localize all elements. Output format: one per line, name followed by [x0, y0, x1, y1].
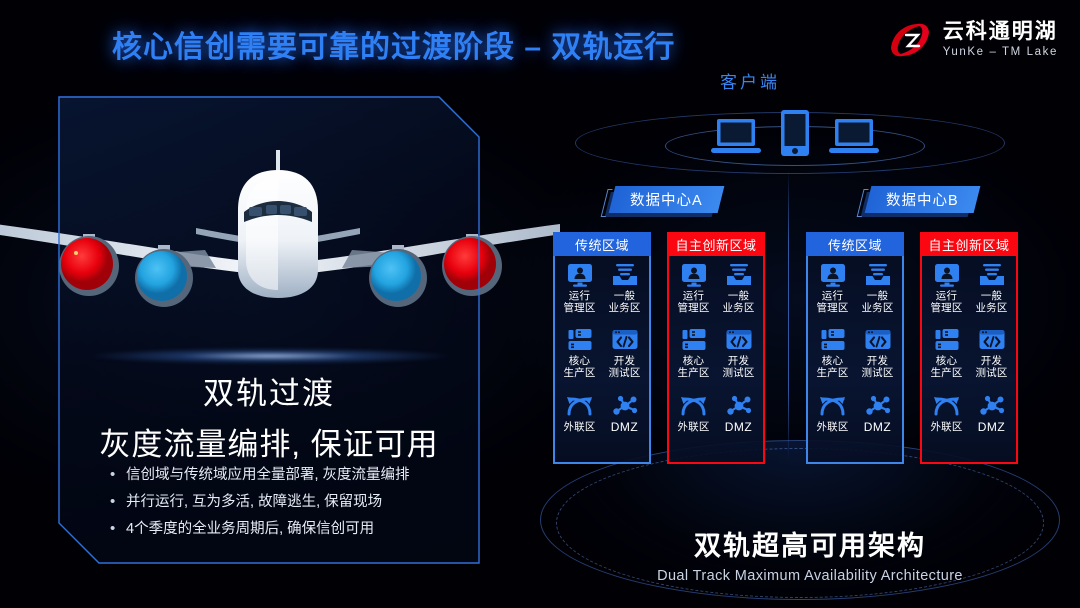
zone-cell-label: 外联区	[563, 421, 595, 433]
network-node-icon	[611, 393, 639, 419]
zone-traditional-dc-a[interactable]: 传统区域 运行 管理区一般 业务区核心 生产区开发 测试区外联区DMZ	[553, 232, 651, 464]
zone-cell-label: 核心 生产区	[677, 355, 709, 379]
zone-title: 传统区域	[553, 232, 651, 256]
inbox-tray-icon	[865, 262, 891, 288]
datacenter-divider	[788, 170, 789, 460]
code-window-icon	[726, 327, 752, 353]
zone-cell-grid: 运行 管理区一般 业务区核心 生产区开发 测试区外联区DMZ	[553, 256, 651, 464]
zone-cell-label: DMZ	[725, 421, 753, 433]
light-streak	[90, 348, 450, 364]
zone-cell-label: 运行 管理区	[563, 290, 595, 314]
zone-cell-label: 开发 测试区	[722, 355, 754, 379]
bullet-list: 信创域与传统域应用全量部署, 灰度流量编排 并行运行, 互为多活, 故障逃生, …	[108, 462, 488, 543]
laptop-icon	[828, 117, 880, 157]
zone-cell[interactable]: 一般 业务区	[969, 262, 1014, 327]
zone-cell-label: 运行 管理区	[816, 290, 848, 314]
zone-cell[interactable]: 核心 生产区	[671, 327, 716, 392]
zone-cell[interactable]: 开发 测试区	[716, 327, 761, 392]
slide-canvas: 核心信创需要可靠的过渡阶段 – 双轨运行 云科通明湖 YunKe – TM La…	[0, 0, 1080, 608]
zone-cell-label: 一般 业务区	[722, 290, 754, 314]
server-stack-icon	[820, 327, 846, 353]
headline-line-1: 双轨过渡	[58, 368, 480, 413]
client-device-group	[700, 105, 890, 157]
zone-cell[interactable]: 开发 测试区	[969, 327, 1014, 392]
crossing-arrows-icon	[819, 393, 847, 419]
zone-cell-label: 开发 测试区	[861, 355, 893, 379]
network-node-icon	[864, 393, 892, 419]
list-item: 4个季度的全业务周期后, 确保信创可用	[108, 516, 488, 543]
server-stack-icon	[681, 327, 707, 353]
code-window-icon	[612, 327, 638, 353]
zone-cell[interactable]: 核心 生产区	[924, 327, 969, 392]
zone-cell-label: DMZ	[864, 421, 892, 433]
zone-cell[interactable]: 开发 测试区	[602, 327, 647, 392]
zone-cell[interactable]: DMZ	[855, 393, 900, 458]
zone-cell[interactable]: 运行 管理区	[810, 262, 855, 327]
monitor-user-icon	[681, 262, 707, 288]
zone-cell[interactable]: 外联区	[671, 393, 716, 458]
brand-logo: 云科通明湖 YunKe – TM Lake	[887, 18, 1058, 62]
zone-innovation-dc-a[interactable]: 自主创新区域 运行 管理区一般 业务区核心 生产区开发 测试区外联区DMZ	[667, 232, 765, 464]
code-window-icon	[979, 327, 1005, 353]
zone-cell-label: 一般 业务区	[861, 290, 893, 314]
list-item: 并行运行, 互为多活, 故障逃生, 保留现场	[108, 489, 488, 516]
zone-title: 传统区域	[806, 232, 904, 256]
monitor-user-icon	[567, 262, 593, 288]
panel-headline: 双轨过渡 灰度流量编排, 保证可用	[58, 368, 480, 464]
brand-name-en: YunKe – TM Lake	[943, 46, 1058, 58]
crossing-arrows-icon	[933, 393, 961, 419]
inbox-tray-icon	[726, 262, 752, 288]
network-node-icon	[725, 393, 753, 419]
server-stack-icon	[567, 327, 593, 353]
inbox-tray-icon	[979, 262, 1005, 288]
zone-cell-label: 一般 业务区	[608, 290, 640, 314]
zone-traditional-dc-b[interactable]: 传统区域 运行 管理区一般 业务区核心 生产区开发 测试区外联区DMZ	[806, 232, 904, 464]
zone-cell[interactable]: 外联区	[810, 393, 855, 458]
zone-cell-label: 运行 管理区	[677, 290, 709, 314]
list-item: 信创域与传统域应用全量部署, 灰度流量编排	[108, 462, 488, 489]
datacenter-b-banner: 数据中心B	[865, 186, 980, 213]
zone-cell-label: 一般 业务区	[975, 290, 1007, 314]
zone-cell[interactable]: 运行 管理区	[671, 262, 716, 327]
tablet-icon	[780, 109, 810, 157]
zone-innovation-dc-b[interactable]: 自主创新区域 运行 管理区一般 业务区核心 生产区开发 测试区外联区DMZ	[920, 232, 1018, 464]
zone-cell[interactable]: 核心 生产区	[557, 327, 602, 392]
architecture-title-block: 双轨超高可用架构 Dual Track Maximum Availability…	[560, 524, 1060, 584]
zone-cell[interactable]: 一般 业务区	[716, 262, 761, 327]
brand-name-cn: 云科通明湖	[943, 21, 1058, 43]
architecture-title-cn: 双轨超高可用架构	[560, 524, 1060, 563]
network-node-icon	[978, 393, 1006, 419]
client-label-text: 客户端	[720, 73, 780, 92]
zone-cell[interactable]: 核心 生产区	[810, 327, 855, 392]
zone-cell-label: 核心 生产区	[563, 355, 595, 379]
zone-cell[interactable]: 一般 业务区	[602, 262, 647, 327]
zone-cell[interactable]: 开发 测试区	[855, 327, 900, 392]
monitor-user-icon	[934, 262, 960, 288]
zone-cell-label: 开发 测试区	[608, 355, 640, 379]
zone-cell[interactable]: 运行 管理区	[924, 262, 969, 327]
zone-cell[interactable]: DMZ	[602, 393, 647, 458]
datacenter-b-label: 数据中心B	[886, 189, 959, 210]
zone-cell-label: 运行 管理区	[930, 290, 962, 314]
zone-cell[interactable]: 一般 业务区	[855, 262, 900, 327]
inbox-tray-icon	[612, 262, 638, 288]
monitor-user-icon	[820, 262, 846, 288]
zone-title: 自主创新区域	[920, 232, 1018, 256]
yunke-swirl-icon	[887, 18, 933, 62]
zone-cell-label: 开发 测试区	[975, 355, 1007, 379]
zone-cell[interactable]: 外联区	[557, 393, 602, 458]
zone-cell-grid: 运行 管理区一般 业务区核心 生产区开发 测试区外联区DMZ	[806, 256, 904, 464]
zone-cell[interactable]: 运行 管理区	[557, 262, 602, 327]
zone-cell-grid: 运行 管理区一般 业务区核心 生产区开发 测试区外联区DMZ	[667, 256, 765, 464]
zone-cell-label: 外联区	[930, 421, 962, 433]
zone-cell-grid: 运行 管理区一般 业务区核心 生产区开发 测试区外联区DMZ	[920, 256, 1018, 464]
datacenter-a-banner: 数据中心A	[609, 186, 724, 213]
zone-cell-label: 核心 生产区	[816, 355, 848, 379]
zone-cell-label: 外联区	[677, 421, 709, 433]
code-window-icon	[865, 327, 891, 353]
crossing-arrows-icon	[680, 393, 708, 419]
page-title: 核心信创需要可靠的过渡阶段 – 双轨运行	[112, 22, 675, 66]
architecture-title-en: Dual Track Maximum Availability Architec…	[560, 568, 1060, 584]
zone-cell[interactable]: 外联区	[924, 393, 969, 458]
zone-cell-label: DMZ	[611, 421, 639, 433]
client-tier-label: 客户端	[0, 68, 1080, 93]
zone-cell[interactable]: DMZ	[716, 393, 761, 458]
zone-cell-label: 核心 生产区	[930, 355, 962, 379]
zone-cell-label: DMZ	[978, 421, 1006, 433]
server-stack-icon	[934, 327, 960, 353]
laptop-icon	[710, 117, 762, 157]
headline-line-2: 灰度流量编排, 保证可用	[58, 419, 480, 464]
brand-logo-text: 云科通明湖 YunKe – TM Lake	[943, 21, 1058, 58]
zone-cell-label: 外联区	[816, 421, 848, 433]
zone-cell[interactable]: DMZ	[969, 393, 1014, 458]
datacenter-a-label: 数据中心A	[630, 189, 703, 210]
zone-title: 自主创新区域	[667, 232, 765, 256]
crossing-arrows-icon	[566, 393, 594, 419]
